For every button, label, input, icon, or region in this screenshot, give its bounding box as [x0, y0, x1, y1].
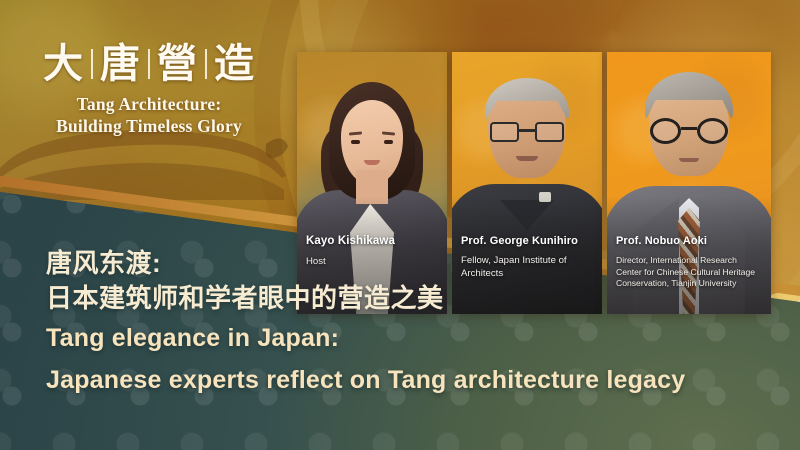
broadcast-title-card: 大 唐 營 造 Tang Architecture: Building Time…: [0, 0, 800, 450]
logo-tagline-line-2: Building Timeless Glory: [34, 115, 264, 137]
logo-separator-1: [91, 49, 93, 79]
headline-chinese-line-2: 日本建筑师和学者眼中的营造之美: [46, 281, 776, 316]
logo-char-2: 唐: [94, 44, 147, 84]
logo-chinese-title: 大 唐 營 造: [34, 44, 264, 84]
headline-english-line-2: Japanese experts reflect on Tang archite…: [46, 363, 776, 399]
logo-separator-2: [148, 49, 150, 79]
temple-roof-silhouette: [0, 128, 290, 202]
logo-char-1: 大: [37, 44, 90, 84]
logo-tagline-line-1: Tang Architecture:: [34, 93, 264, 115]
logo-separator-3: [205, 49, 207, 79]
program-logo: 大 唐 營 造 Tang Architecture: Building Time…: [34, 44, 264, 138]
logo-char-3: 營: [151, 44, 204, 84]
headline-block: 唐风东渡: 日本建筑师和学者眼中的营造之美 Tang elegance in J…: [46, 246, 776, 398]
headline-english-line-1: Tang elegance in Japan:: [46, 321, 776, 357]
logo-char-4: 造: [208, 44, 261, 84]
logo-english-tagline: Tang Architecture: Building Timeless Glo…: [34, 93, 264, 138]
headline-chinese-line-1: 唐风东渡:: [46, 246, 776, 281]
